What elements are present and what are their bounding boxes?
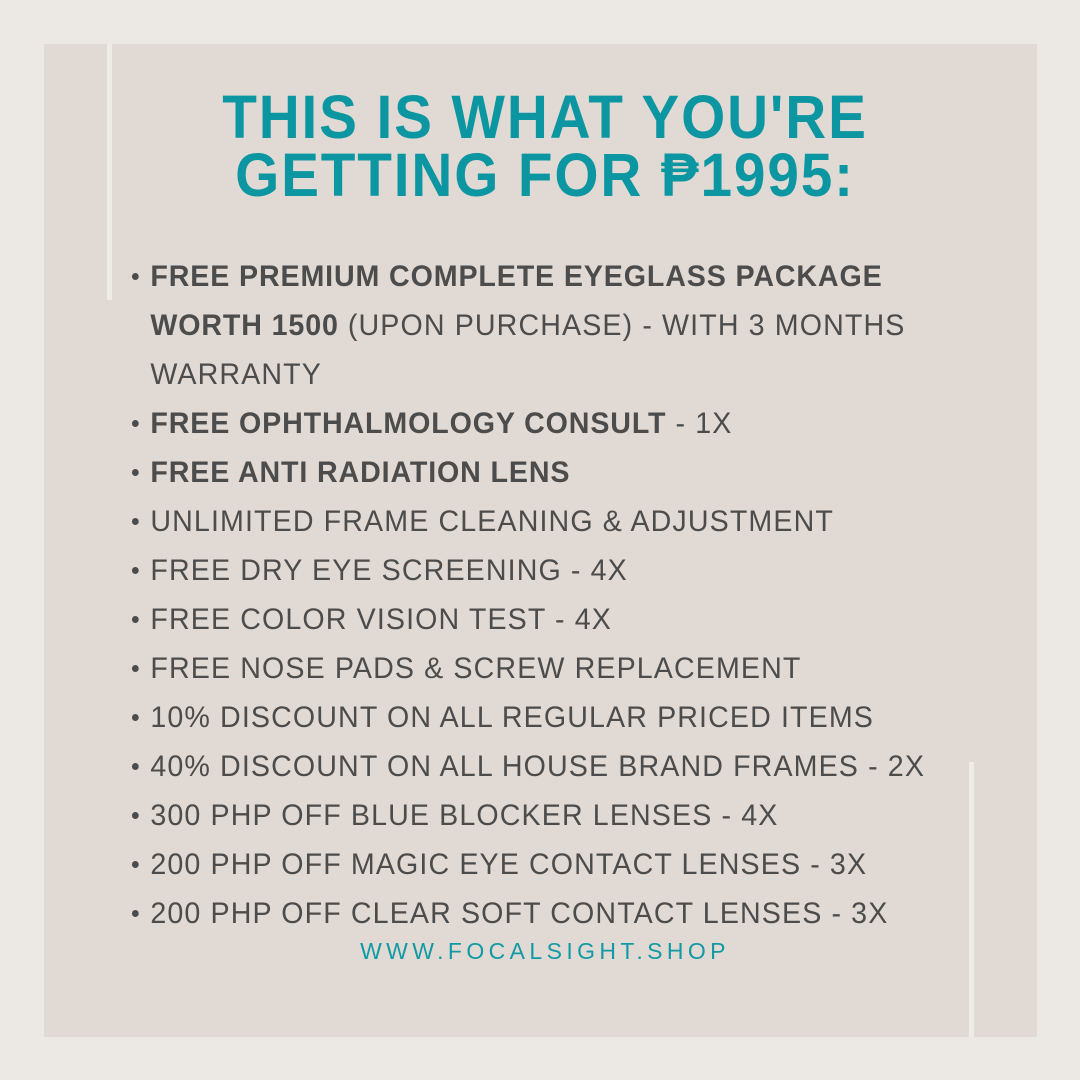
benefit-list-item: FREE PREMIUM COMPLETE EYEGLASS PACKAGE W…	[130, 252, 943, 399]
headline-line-2: GETTING FOR ₱1995:	[101, 146, 988, 204]
benefit-list-item: 200 PHP OFF CLEAR SOFT CONTACT LENSES - …	[130, 889, 943, 938]
bullet-icon	[132, 518, 139, 525]
benefit-detail: 200 PHP OFF CLEAR SOFT CONTACT LENSES - …	[150, 897, 888, 930]
benefit-detail: FREE NOSE PADS & SCREW REPLACEMENT	[150, 652, 801, 685]
bullet-icon	[132, 567, 139, 574]
benefit-list-item: UNLIMITED FRAME CLEANING & ADJUSTMENT	[130, 497, 943, 546]
benefit-detail: FREE DRY EYE SCREENING - 4X	[150, 554, 627, 587]
benefit-list-item: FREE COLOR VISION TEST - 4X	[130, 595, 943, 644]
benefit-list-item: FREE OPHTHALMOLOGY CONSULT - 1X	[130, 399, 943, 448]
benefit-detail: 40% DISCOUNT ON ALL HOUSE BRAND FRAMES -…	[150, 750, 925, 783]
benefit-highlight: FREE ANTI RADIATION LENS	[150, 456, 570, 489]
benefit-list-item: FREE DRY EYE SCREENING - 4X	[130, 546, 943, 595]
bullet-icon	[132, 812, 139, 819]
website-url[interactable]: WWW.FOCALSIGHT.SHOP	[68, 938, 1022, 965]
decorative-rule-right	[969, 762, 974, 1037]
benefit-list-item: 10% DISCOUNT ON ALL REGULAR PRICED ITEMS	[130, 693, 943, 742]
headline-line-1: THIS IS WHAT YOU'RE	[101, 88, 988, 146]
benefit-highlight: FREE OPHTHALMOLOGY CONSULT	[150, 407, 666, 440]
bullet-icon	[132, 910, 139, 917]
bullet-icon	[132, 714, 139, 721]
bullet-icon	[132, 616, 139, 623]
benefit-detail: 200 PHP OFF MAGIC EYE CONTACT LENSES - 3…	[150, 848, 867, 881]
benefit-list-item: 40% DISCOUNT ON ALL HOUSE BRAND FRAMES -…	[130, 742, 943, 791]
bullet-icon	[132, 469, 139, 476]
headline: THIS IS WHAT YOU'RE GETTING FOR ₱1995:	[101, 88, 988, 204]
benefit-detail: - 1X	[666, 407, 732, 440]
benefit-detail: FREE COLOR VISION TEST - 4X	[150, 603, 612, 636]
benefits-list: FREE PREMIUM COMPLETE EYEGLASS PACKAGE W…	[130, 252, 968, 938]
benefit-list-item: FREE ANTI RADIATION LENS	[130, 448, 943, 497]
bullet-icon	[132, 273, 139, 280]
benefit-list-item: 300 PHP OFF BLUE BLOCKER LENSES - 4X	[130, 791, 943, 840]
benefit-detail: UNLIMITED FRAME CLEANING & ADJUSTMENT	[150, 505, 834, 538]
bullet-icon	[132, 665, 139, 672]
promo-poster: THIS IS WHAT YOU'RE GETTING FOR ₱1995: F…	[0, 0, 1080, 1080]
bullet-icon	[132, 763, 139, 770]
bullet-icon	[132, 420, 139, 427]
benefit-list-item: 200 PHP OFF MAGIC EYE CONTACT LENSES - 3…	[130, 840, 943, 889]
benefit-detail: 10% DISCOUNT ON ALL REGULAR PRICED ITEMS	[150, 701, 874, 734]
benefit-detail: 300 PHP OFF BLUE BLOCKER LENSES - 4X	[150, 799, 778, 832]
bullet-icon	[132, 861, 139, 868]
poster-content: THIS IS WHAT YOU'RE GETTING FOR ₱1995: F…	[130, 44, 960, 1037]
benefit-list-item: FREE NOSE PADS & SCREW REPLACEMENT	[130, 644, 943, 693]
